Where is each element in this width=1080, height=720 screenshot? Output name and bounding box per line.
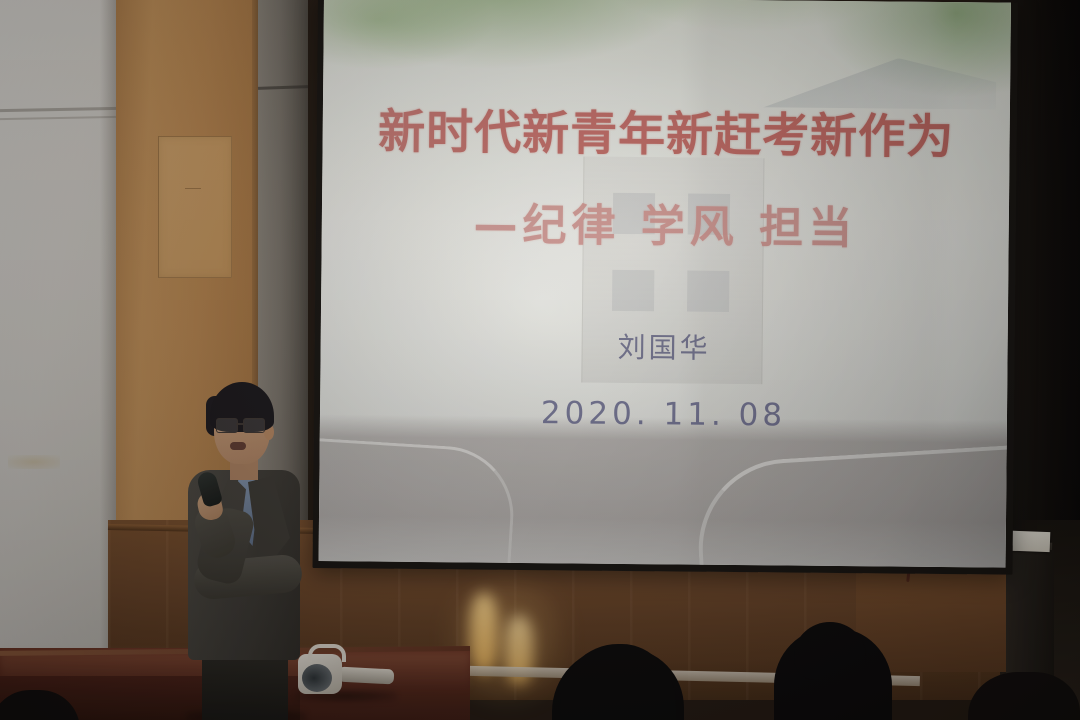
lecture-hall-scene: 新时代新青年新赶考新作为 —纪律 学风 担当 刘国华 2020. 11. 08: [0, 0, 1080, 720]
glasses-bridge: [236, 423, 243, 425]
stage-light-left: [470, 592, 498, 674]
slide-date: 2020. 11. 08: [541, 395, 787, 433]
blower-nozzle: [302, 664, 332, 692]
presenter-mouth: [230, 442, 246, 450]
glasses-lens-right: [243, 418, 265, 433]
projection-screen: 新时代新青年新赶考新作为 —纪律 学风 担当 刘国华 2020. 11. 08: [313, 0, 1018, 575]
wall-stain: [8, 455, 60, 469]
slide-author: 刘国华: [617, 326, 710, 367]
slide-text-block: 新时代新青年新赶考新作为 —纪律 学风 担当 刘国华 2020. 11. 08: [319, 0, 1011, 568]
glasses-icon: [216, 418, 270, 431]
slide-title: 新时代新青年新赶考新作为: [378, 93, 955, 168]
glasses-lens-left: [216, 418, 238, 433]
column-patch: [158, 136, 232, 278]
screen-surface: 新时代新青年新赶考新作为 —纪律 学风 担当 刘国华 2020. 11. 08: [319, 0, 1011, 568]
lectern-side-panel: [1006, 550, 1054, 690]
blower-hose: [338, 667, 395, 685]
presenter-legs: [202, 652, 288, 720]
blower-device: [296, 642, 392, 698]
column-patch-crack: [185, 188, 201, 189]
slide-subtitle: —纪律 学风 担当: [473, 189, 857, 257]
blower-handle: [308, 644, 346, 662]
